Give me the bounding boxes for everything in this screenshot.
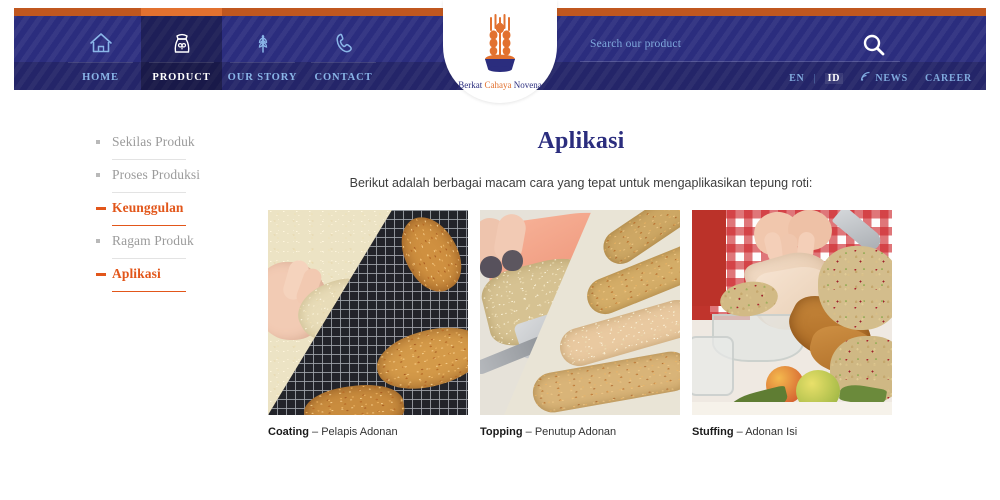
logo-wordmark: Berkat Cahaya Novena	[458, 80, 542, 90]
card-term: Coating	[268, 426, 309, 438]
sidebar-item-aplikasi[interactable]: Aplikasi	[96, 265, 256, 292]
active-tab-accent	[141, 8, 222, 16]
sidebar-item-sekilas-produk[interactable]: Sekilas Produk	[96, 133, 256, 160]
bullet-icon	[96, 140, 100, 144]
news-link-group[interactable]: NEWS	[860, 69, 908, 87]
application-card-grid: Coating – Pelapis Adonan	[268, 210, 894, 438]
nav-item-home[interactable]: HOME	[60, 16, 141, 90]
sidebar-item-keunggulan[interactable]: Keunggulan	[96, 199, 256, 226]
coating-photo	[268, 210, 468, 415]
sidebar-underline	[112, 291, 186, 292]
card-caption: Topping – Penutup Adonan	[480, 426, 680, 438]
stuffing-photo	[692, 210, 892, 415]
application-card: Topping – Penutup Adonan	[480, 210, 680, 438]
logo-word-berkat: Berkat	[458, 80, 482, 90]
sidebar-item-ragam-produk[interactable]: Ragam Produk	[96, 232, 256, 259]
nav-item-product[interactable]: PRODUCT	[141, 16, 222, 90]
main-content: Aplikasi Berikut adalah berbagai macam c…	[268, 128, 894, 438]
news-link[interactable]: NEWS	[875, 73, 908, 84]
flour-sack-icon	[169, 29, 195, 57]
nav-label-product: PRODUCT	[152, 72, 210, 83]
sidebar-label: Sekilas Produk	[112, 134, 195, 149]
nav-divider	[149, 62, 214, 63]
search-icon[interactable]	[861, 32, 887, 63]
logo-word-cahaya: Cahaya	[485, 80, 512, 90]
wheat-icon	[250, 29, 276, 57]
card-dash: –	[526, 426, 532, 438]
nav-label-contact: CONTACT	[314, 72, 372, 83]
card-caption: Coating – Pelapis Adonan	[268, 426, 468, 438]
sidebar-item-proses-produksi[interactable]: Proses Produksi	[96, 166, 256, 193]
site-header: HOME PRODUCT	[0, 0, 1000, 92]
nav-item-contact[interactable]: CONTACT	[303, 16, 384, 90]
lang-link-id[interactable]: ID	[825, 73, 844, 84]
nav-divider	[230, 62, 295, 63]
site-logo[interactable]: Berkat Cahaya Novena	[443, 0, 557, 103]
bullet-icon	[96, 239, 100, 243]
sidebar-underline	[112, 192, 186, 193]
application-card: Stuffing – Adonan Isi	[692, 210, 892, 438]
logo-word-novena: Novena	[514, 80, 542, 90]
page-title: Aplikasi	[268, 128, 894, 155]
nav-divider	[68, 62, 133, 63]
nav-label-our-story: OUR STORY	[228, 72, 298, 83]
dash-icon	[96, 273, 106, 276]
rss-icon	[860, 69, 871, 87]
lang-link-en[interactable]: EN	[789, 73, 805, 84]
card-caption: Stuffing – Adonan Isi	[692, 426, 892, 438]
home-icon	[88, 29, 114, 57]
nav-divider	[311, 62, 376, 63]
sidebar-underline	[112, 225, 186, 226]
career-link[interactable]: CAREER	[925, 73, 972, 84]
sidebar-label: Keunggulan	[112, 200, 184, 215]
topping-photo	[480, 210, 680, 415]
sidebar-underline	[112, 258, 186, 259]
card-description: Pelapis Adonan	[321, 426, 397, 438]
sidebar-label: Proses Produksi	[112, 167, 200, 182]
sidebar-label: Aplikasi	[112, 266, 161, 281]
card-dash: –	[312, 426, 318, 438]
bullet-icon	[96, 173, 100, 177]
sidebar-label: Ragam Produk	[112, 233, 194, 248]
card-description: Adonan Isi	[745, 426, 797, 438]
card-term: Stuffing	[692, 426, 734, 438]
search-underline	[580, 61, 900, 62]
card-dash: –	[737, 426, 743, 438]
card-description: Penutup Adonan	[535, 426, 616, 438]
utility-links: EN | ID NEWS CAREER	[789, 69, 972, 87]
card-term: Topping	[480, 426, 523, 438]
search-input[interactable]	[590, 38, 850, 50]
lang-separator: |	[814, 73, 816, 84]
product-sidebar-nav: Sekilas Produk Proses Produksi Keunggula…	[96, 133, 256, 298]
phone-icon	[331, 29, 357, 57]
page-subtitle: Berikut adalah berbagai macam cara yang …	[268, 176, 894, 190]
dash-icon	[96, 207, 106, 210]
nav-item-our-story[interactable]: OUR STORY	[222, 16, 303, 90]
search-area	[575, 30, 905, 62]
wheat-stalk-logo-icon	[469, 8, 531, 79]
sidebar-underline	[112, 159, 186, 160]
application-card: Coating – Pelapis Adonan	[268, 210, 468, 438]
nav-label-home: HOME	[82, 72, 119, 83]
